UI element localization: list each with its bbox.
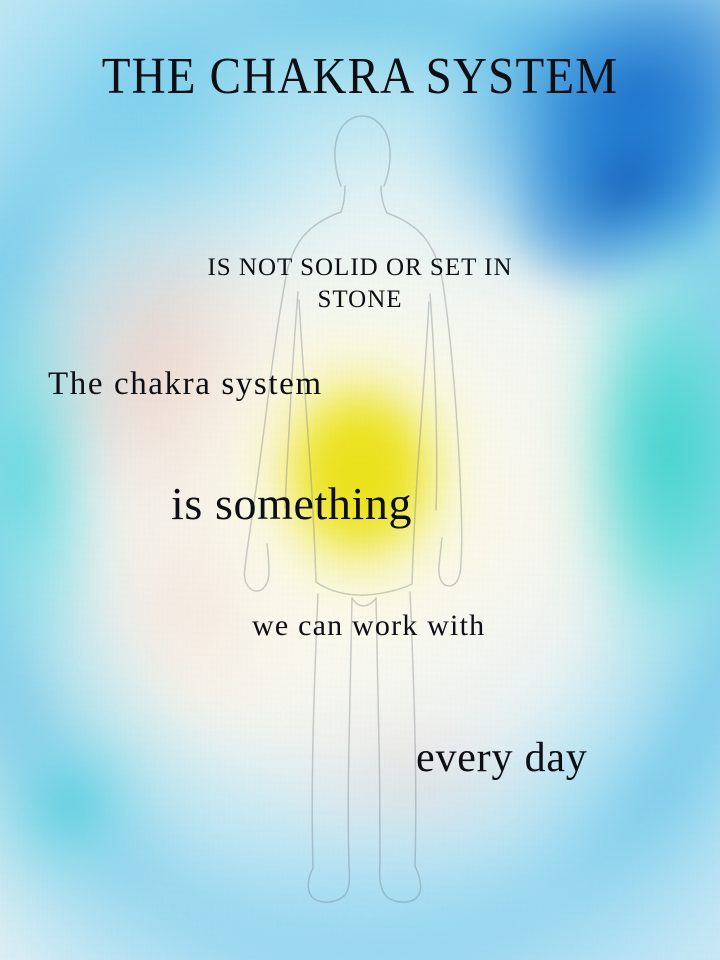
turquoise-right-arc-wash [461,154,720,749]
quote-line-chakra-system: The chakra system [48,366,323,403]
quote-line-we-can-work-with: we can work with [252,609,485,643]
quote-line-not-solid: IS NOT SOLID OR SET IN STONE [0,252,720,316]
quote-line-every-day: every day [416,735,588,782]
yellow-halo-wash [194,278,525,662]
turquoise-bottomleft-wash [0,664,206,960]
pale-blue-bottom-wash [0,730,720,960]
quote-line-is-something: is something [171,478,412,530]
page-title: THE CHAKRA SYSTEM [0,48,720,106]
chakra-poster: THE CHAKRA SYSTEM IS NOT SOLID OR SET IN… [0,0,720,960]
rose-left-wash [43,422,360,768]
